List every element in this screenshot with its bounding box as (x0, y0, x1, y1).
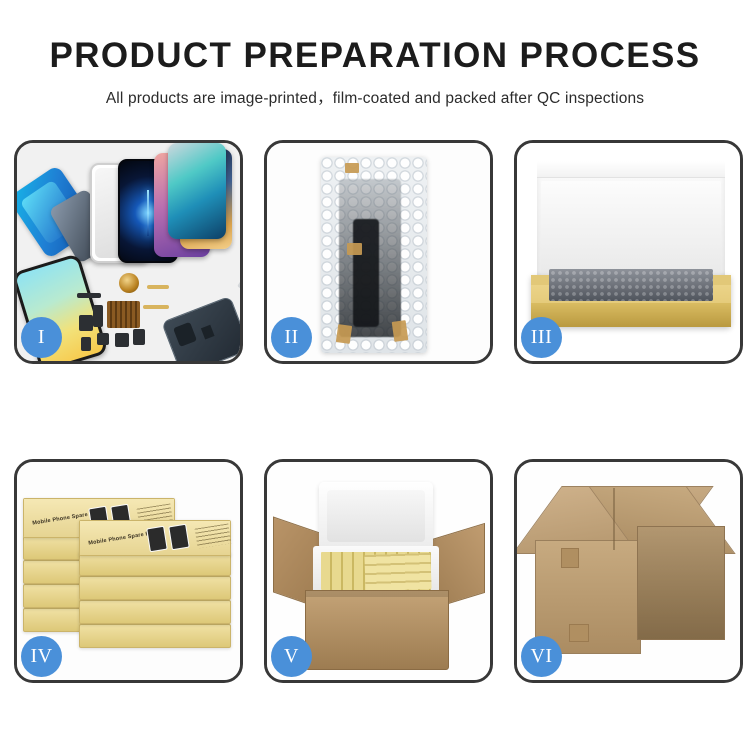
part-connector-icon (133, 329, 145, 345)
step-badge-4: IV (21, 636, 62, 677)
step-badge-2: II (271, 317, 312, 358)
stacked-box-top-right: Mobile Phone Spare Parts (79, 520, 231, 556)
box-product-image-right-1 (146, 526, 168, 553)
tape-piece-bottom-right-icon (392, 320, 409, 342)
box-product-image-right-2 (168, 524, 190, 551)
carton-tape-patch-bottom (569, 624, 589, 642)
phone-back-housing-icon (161, 296, 240, 361)
step-panel-2: II (264, 140, 493, 364)
process-steps-grid: I II III (14, 140, 744, 683)
part-bar-icon (93, 305, 103, 327)
step-badge-5: V (271, 636, 312, 677)
copper-coil-icon (119, 273, 139, 293)
yellow-boxes-row-2 (364, 553, 431, 591)
tweezers-icon (237, 281, 240, 311)
part-camera-icon (97, 333, 109, 345)
tape-piece-middle-icon (347, 243, 362, 255)
tape-piece-top-icon (345, 163, 359, 173)
spare-parts-cluster (77, 271, 197, 361)
page-header: PRODUCT PREPARATION PROCESS All products… (0, 0, 750, 108)
step-panel-1: I (14, 140, 243, 364)
flex-cable-2-icon (143, 305, 169, 309)
step-panel-3: III (514, 140, 743, 364)
foam-lid (319, 482, 433, 550)
part-strip-icon (77, 293, 101, 298)
step-badge-3: III (521, 317, 562, 358)
part-speaker-icon (115, 333, 129, 347)
chip-grid-icon (107, 301, 140, 328)
stacked-box-r4 (79, 600, 231, 624)
step-badge-1: I (21, 317, 62, 358)
bubble-wrap-package (321, 157, 427, 353)
page-title: PRODUCT PREPARATION PROCESS (0, 38, 750, 75)
step-badge-6: VI (521, 636, 562, 677)
part-small-icon (81, 337, 91, 351)
dark-foam-insert (549, 269, 713, 301)
part-block-icon (79, 315, 93, 331)
carton-side-face (637, 526, 725, 640)
box-front-panel (531, 303, 731, 327)
flex-cable-icon (147, 285, 169, 289)
page-subtitle: All products are image-printed，film-coat… (0, 86, 750, 108)
step-panel-6: VI (514, 459, 743, 683)
tape-piece-bottom-left-icon (336, 324, 352, 344)
stacked-box-r5 (79, 624, 231, 648)
stacked-box-r3 (79, 576, 231, 600)
carton-front-panel (305, 590, 449, 670)
step-panel-5: V (264, 459, 493, 683)
phone-teal-icon (168, 143, 226, 239)
carton-top-seam (613, 488, 615, 550)
wrapped-part-inner (339, 179, 401, 337)
carton-tape-patch-top (561, 548, 579, 568)
step-panel-4: Mobile Phone Spare Parts Mobile Phone Sp… (14, 459, 243, 683)
white-foam-sheet (541, 181, 721, 277)
